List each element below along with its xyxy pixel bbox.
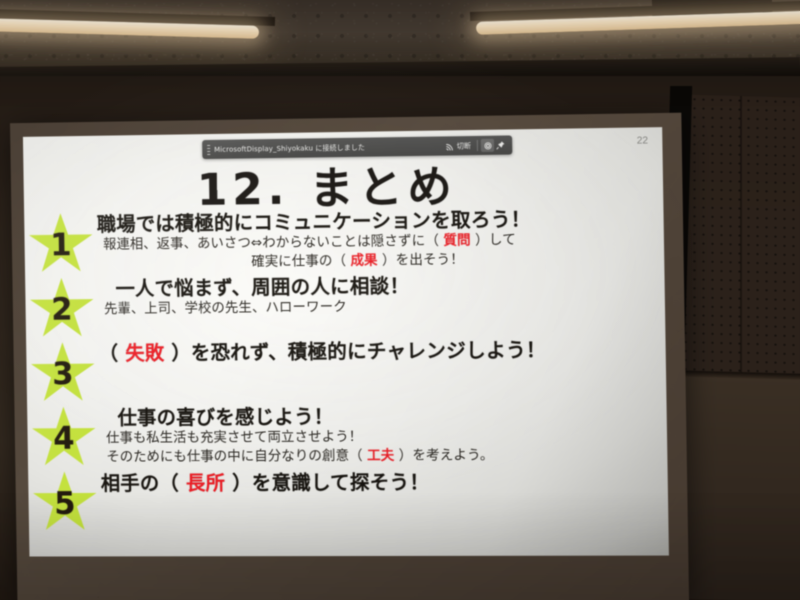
summary-item-heading: （ 失敗 ）を恐れず、積極的にチャレンジしよう！ [99,338,666,366]
highlight-keyword: 工夫 [367,448,394,464]
summary-item: 3（ 失敗 ）を恐れず、積極的にチャレンジしよう！ [26,336,666,404]
star-icon: 2 [29,277,95,339]
summary-item-body: 仕事の喜びを感じよう！仕事も私生活も充実させて両立させよう！そのためにも仕事の中… [100,401,668,467]
acoustic-wall-panel [672,94,800,380]
disconnect-button[interactable]: 切断 [443,140,474,153]
summary-item-heading: 仕事の喜びを感じよう！ [100,403,667,429]
summary-item-body: 一人で悩まず、周囲の人に相談！先輩、上司、学校の先生、ハローワーク [98,270,665,320]
text-run: 一人で悩まず、周囲の人に相談！ [115,275,409,301]
star-number-label: 5 [54,486,76,522]
photo-scene: MicrosoftDisplay_Shiyokaku に接続しました 切断 [0,0,800,600]
cast-status-label: MicrosoftDisplay_Shiyokaku に接続しました [214,141,443,154]
text-run: 仕事の喜びを感じよう！ [117,405,333,429]
star-icon: 5 [32,471,98,533]
wall-panel-seam-vertical [740,96,742,396]
summary-item: 2一人で悩まず、周囲の人に相談！先輩、上司、学校の先生、ハローワーク [25,270,665,339]
text-run: （ [99,342,126,365]
text-run: ）を出そう！ [378,252,465,269]
summary-item: 4仕事の喜びを感じよう！仕事も私生活も充実させて両立させよう！そのためにも仕事の… [27,401,667,468]
text-run: 報連相、返事、あいさつ⇔わからないことは隠さずに（ [103,233,444,253]
highlight-keyword: 失敗 [125,342,164,365]
toolbar-divider [477,140,478,151]
drag-handle[interactable] [207,144,210,154]
star-icon: 1 [28,212,94,274]
star-badge-3: 3 [26,340,100,403]
presentation-slide: MicrosoftDisplay_Shiyokaku に接続しました 切断 [23,127,669,556]
slide-page-number: 22 [637,135,649,146]
settings-icon[interactable] [481,139,494,152]
star-badge-2: 2 [25,276,99,339]
cast-connection-toolbar[interactable]: MicrosoftDisplay_Shiyokaku に接続しました 切断 [202,135,512,159]
highlight-keyword: 質問 [443,232,471,248]
highlight-keyword: 成果 [350,253,377,269]
star-badge-5: 5 [28,470,102,533]
summary-item-body: （ 失敗 ）を恐れず、積極的にチャレンジしよう！ [99,336,666,366]
text-run: ）を恐れず、積極的にチャレンジしよう！ [164,339,546,365]
summary-item-heading: 相手の（ 長所 ）を意識して探そう！ [101,469,668,494]
star-icon: 4 [31,406,97,468]
text-run: ）を意識して探そう！ [225,470,429,494]
cast-icon [446,142,455,150]
pin-icon[interactable] [494,139,507,152]
summary-item-subtext: そのためにも仕事の中に自分なりの創意（ 工夫 ）を考えよう。 [100,446,667,468]
text-run: ）を考えよう。 [394,448,494,465]
highlight-keyword: 長所 [186,471,226,494]
star-badge-1: 1 [24,211,98,274]
star-number-label: 4 [53,421,75,457]
slide-title: 12. まとめ [196,150,457,217]
projection-screen-frame: MicrosoftDisplay_Shiyokaku に接続しました 切断 [10,113,689,600]
summary-item: 5相手の（ 長所 ）を意識して探そう！ [28,467,668,532]
text-run: 確実に仕事の（ [251,253,350,270]
summary-item-list: 1職場では積極的にコミュニケーションを取ろう！報連相、返事、あいさつ⇔わからない… [24,204,668,534]
star-number-label: 2 [51,292,73,328]
text-run: 仕事も私生活も充実させて両立させよう！ [106,429,363,446]
text-run: そのためにも仕事の中に自分なりの創意（ [106,448,367,465]
star-icon: 3 [30,341,96,403]
projection-screen-surface: MicrosoftDisplay_Shiyokaku に接続しました 切断 [23,127,669,556]
star-badge-4: 4 [27,405,101,468]
disconnect-label: 切断 [457,141,471,151]
text-run: 相手の（ [101,471,186,494]
text-run: ）して [471,232,516,249]
star-number-label: 1 [50,227,72,263]
text-run: 先輩、上司、学校の先生、ハローワーク [104,299,347,317]
star-number-label: 3 [52,357,74,393]
wall-lower-section [672,376,800,600]
summary-item-body: 相手の（ 長所 ）を意識して探そう！ [101,467,668,494]
